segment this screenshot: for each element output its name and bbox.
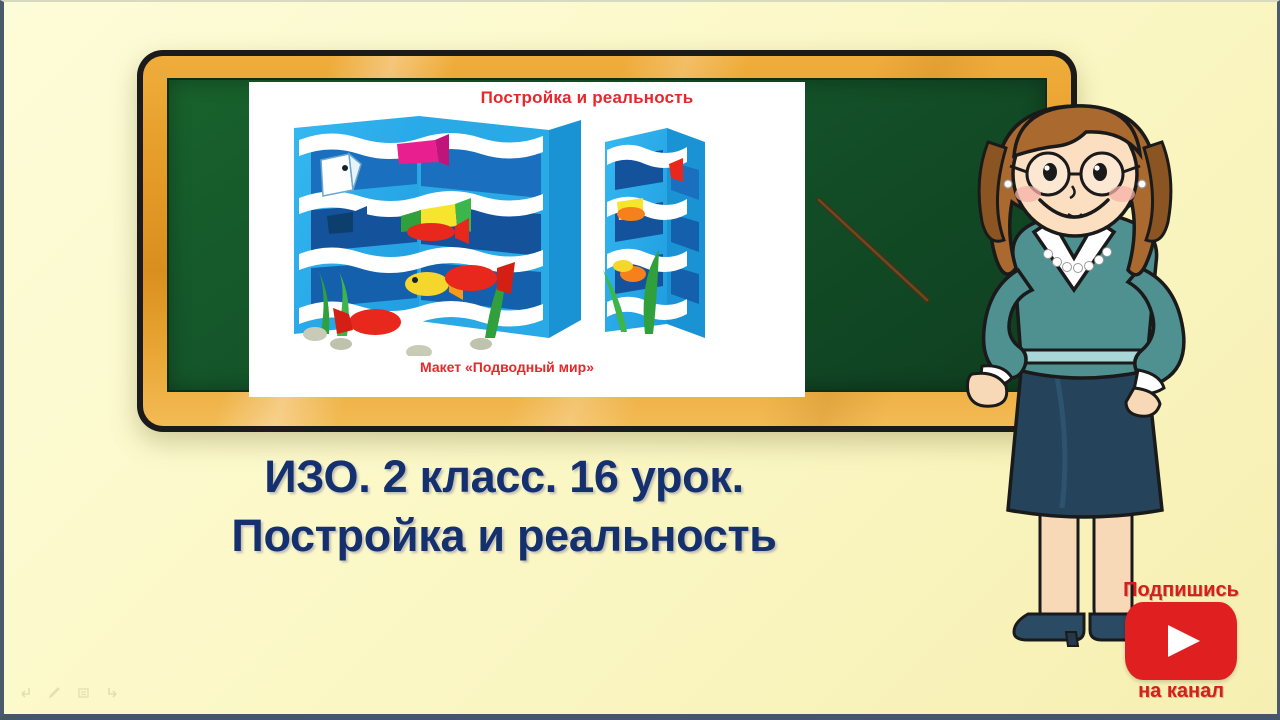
underwater-paper-model-illustration [249, 106, 805, 356]
fish-crab-red [333, 308, 401, 335]
presentation-slide[interactable]: Постройка и реальность [249, 82, 805, 397]
lesson-title-line2: Постройка и реальность [64, 509, 944, 562]
model-large [294, 116, 581, 356]
youtube-play-icon[interactable] [1125, 602, 1237, 680]
model-small [603, 128, 705, 338]
presentation-controls[interactable] [18, 685, 120, 700]
next-slide-icon[interactable] [105, 685, 120, 700]
menu-icon[interactable] [76, 685, 91, 700]
subscribe-top-text: Подпишись [1106, 580, 1256, 600]
lesson-title: ИЗО. 2 класс. 16 урок. Постройка и реаль… [64, 450, 944, 562]
subscribe-badge[interactable]: Подпишись на канал [1106, 580, 1256, 701]
pen-tool-icon[interactable] [47, 685, 62, 700]
presentation-stage: Постройка и реальность [0, 0, 1280, 720]
subscribe-bottom-text: на канал [1106, 681, 1256, 701]
lesson-title-line1: ИЗО. 2 класс. 16 урок. [64, 450, 944, 503]
pointer-stick [809, 192, 939, 312]
slide-caption: Макет «Подводный мир» [249, 359, 805, 375]
slide-artwork [249, 106, 805, 356]
slide-title: Постройка и реальность [249, 88, 805, 108]
previous-slide-icon[interactable] [18, 685, 33, 700]
